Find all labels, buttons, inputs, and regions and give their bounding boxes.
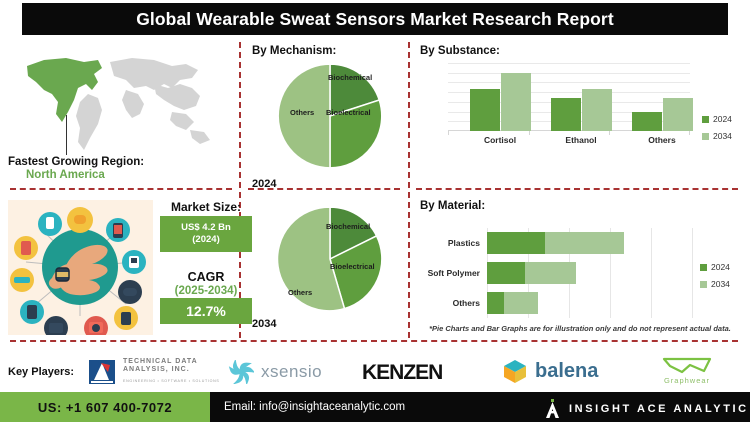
hbar-category-soft-polymer: Soft Polymer	[400, 268, 480, 278]
divider-horizontal-bottom	[10, 340, 738, 342]
bar-cortisol-2024	[470, 89, 500, 131]
market-size-value: US$ 4.2 Bn	[181, 222, 231, 234]
divider-horizontal-left	[10, 188, 232, 190]
graphwear-wordmark: Graphwear	[664, 376, 710, 385]
footer-phone: US: +1 607 400-7072	[38, 400, 172, 415]
cagr-label: CAGR	[158, 270, 254, 284]
bar-category-cortisol: Cortisol	[460, 135, 540, 145]
legend-by-material: 2024 2034	[700, 262, 730, 296]
footer-email: Email: info@insightaceanalytic.com	[224, 401, 405, 413]
legend-by-substance: 2024 2034	[702, 114, 732, 148]
hbar-category-others: Others	[400, 298, 480, 308]
graphwear-mark-icon	[660, 355, 714, 375]
world-map	[14, 44, 219, 156]
infographic-page: Global Wearable Sweat Sensors Market Res…	[0, 0, 750, 422]
pie-2024-label-others: Others	[290, 108, 314, 117]
map-pointer-line	[66, 115, 67, 155]
tda-line2: ANALYSIS, INC.	[123, 366, 219, 374]
bar-others-2024	[632, 112, 662, 131]
hbar-plastics	[487, 232, 624, 254]
legend-item-2034: 2034	[702, 131, 732, 141]
cagr-value: 12.7%	[186, 303, 226, 319]
legend-swatch-2034	[702, 133, 709, 140]
page-title: Global Wearable Sweat Sensors Market Res…	[136, 9, 614, 30]
legend-label-material-2034: 2034	[711, 279, 730, 289]
balena-cube-icon	[502, 358, 528, 384]
hbar-plastics-2034	[545, 232, 624, 254]
pie-2034-label-bioelectrical: Bioelectrical	[330, 262, 375, 271]
section-title-substance: By Substance:	[420, 45, 500, 57]
pie-2034-label-biochemical: Biochemical	[326, 222, 370, 231]
bar-chart-by-material	[487, 228, 692, 318]
section-title-material: By Material:	[420, 200, 485, 212]
legend-item-material-2024: 2024	[700, 262, 730, 272]
market-size-badge: US$ 4.2 Bn (2024)	[160, 216, 252, 252]
fastest-growing-region-value: North America	[26, 169, 105, 181]
chart-disclaimer: *Pie Charts and Bar Graphs are for illus…	[425, 324, 735, 333]
bar-cortisol-2034	[501, 73, 531, 131]
report-header: Global Wearable Sweat Sensors Market Res…	[22, 3, 728, 35]
divider-horizontal-right	[416, 188, 738, 190]
legend-item-2024: 2024	[702, 114, 732, 124]
logo-kenzen: KENZEN	[362, 361, 442, 385]
balena-wordmark: balena	[535, 360, 598, 383]
hbar-others-2034	[504, 292, 538, 314]
pie-2024-label-biochemical: Biochemical	[328, 73, 372, 82]
market-size-label: Market Size:	[160, 200, 252, 214]
footer-phone-block: US: +1 607 400-7072	[0, 392, 210, 422]
legend-swatch-material-2034	[700, 281, 707, 288]
logo-technical-data-analysis: TECHNICAL DATA ANALYSIS, INC. ENGINEERIN…	[88, 358, 219, 385]
hbar-soft-polymer-2024	[487, 262, 525, 284]
key-players-label: Key Players:	[8, 366, 74, 378]
legend-label-2034: 2034	[713, 131, 732, 141]
wearable-tech-illustration	[8, 200, 153, 335]
bar-category-ethanol: Ethanol	[541, 135, 621, 145]
kenzen-wordmark: KENZEN	[362, 361, 442, 385]
logo-graphwear: Graphwear	[660, 355, 714, 385]
bar-others-2034	[663, 98, 693, 131]
bar-category-others: Others	[622, 135, 702, 145]
pie-2024-year: 2024	[252, 178, 276, 190]
legend-label-2024: 2024	[713, 114, 732, 124]
divider-vertical-right	[408, 42, 410, 338]
tda-tagline: ENGINEERING • SOFTWARE • SOLUTIONS	[123, 377, 219, 385]
cagr-period: (2025-2034)	[155, 285, 257, 297]
logo-xsensio: xsensio	[228, 360, 322, 384]
hbar-soft-polymer-2034	[525, 262, 576, 284]
bar-chart-by-substance: Cortisol Ethanol Others	[448, 63, 690, 131]
pie-2034-label-others: Others	[288, 288, 312, 297]
insight-ace-a-icon	[545, 399, 560, 418]
fastest-growing-region-label: Fastest Growing Region:	[8, 156, 144, 168]
legend-swatch-2024	[702, 116, 709, 123]
legend-item-material-2034: 2034	[700, 279, 730, 289]
footer-brand-text: INSIGHT ACE ANALYTIC	[569, 403, 749, 415]
tda-line1: TECHNICAL DATA	[123, 358, 219, 366]
logo-balena: balena	[502, 358, 598, 384]
hbar-others	[487, 292, 538, 314]
cagr-badge: 12.7%	[160, 298, 252, 324]
legend-swatch-material-2024	[700, 264, 707, 271]
bar-ethanol-2034	[582, 89, 612, 131]
hbar-others-2024	[487, 292, 504, 314]
bar-ethanol-2024	[551, 98, 581, 131]
tda-mark-icon	[88, 359, 118, 385]
xsensio-wordmark: xsensio	[261, 362, 322, 382]
market-size-year: (2024)	[192, 234, 219, 246]
pie-2024-label-bioelectrical: Bioelectrical	[326, 108, 371, 117]
hbar-plastics-2024	[487, 232, 545, 254]
legend-label-material-2024: 2024	[711, 262, 730, 272]
pie-2034-year: 2034	[252, 318, 276, 330]
footer-brand: INSIGHT ACE ANALYTIC	[545, 399, 749, 418]
section-title-mechanism: By Mechanism:	[252, 45, 336, 57]
xsensio-swirl-icon	[228, 360, 254, 384]
hbar-soft-polymer	[487, 262, 576, 284]
hbar-category-plastics: Plastics	[400, 238, 480, 248]
